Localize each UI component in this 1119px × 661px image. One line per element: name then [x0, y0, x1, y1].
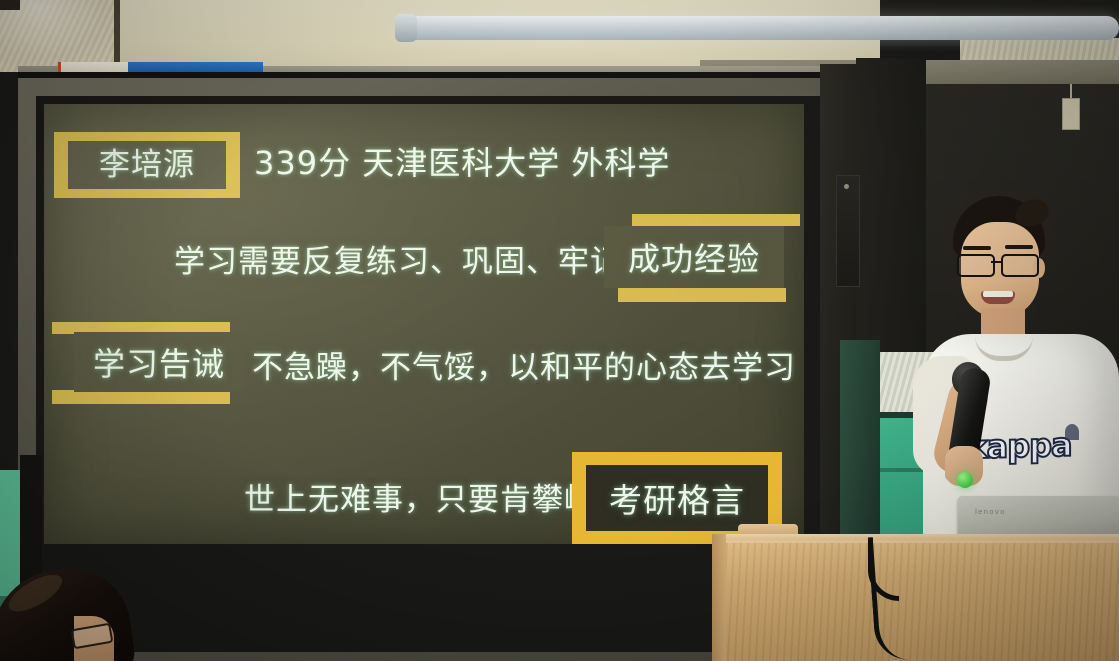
projected-slide: 李培源 339分 天津医科大学 外科学 学习需要反复练习、巩固、牢记 成功经验 — [44, 104, 804, 544]
study-method-sentence: 学习需要反复练习、巩固、牢记 — [174, 236, 622, 281]
badge-bar-bottom — [52, 390, 230, 404]
name-badge-inner: 李培源 — [68, 141, 226, 189]
badge-inner-box: 考研格言 — [586, 465, 768, 531]
student-info-text: 339分 天津医科大学 外科学 — [254, 138, 670, 184]
audience-hair-highlight — [3, 568, 67, 619]
audience-hair — [0, 561, 137, 661]
blackboard-latch — [836, 175, 860, 287]
exam-motto-label: 考研格言 — [609, 474, 745, 522]
badge-inner-box: 成功经验 — [604, 226, 784, 288]
lecture-photo-scene: 李培源 339分 天津医科大学 外科学 学习需要反复练习、巩固、牢记 成功经验 — [0, 0, 1119, 661]
audience-member — [0, 570, 140, 661]
badge-inner-box: 学习告诫 — [74, 332, 244, 392]
study-warning-badge: 学习告诫 — [52, 322, 248, 404]
presenter-eyebrow-left — [963, 246, 991, 250]
name-badge-label: 李培源 — [99, 150, 195, 181]
glasses-lens-right — [1001, 254, 1039, 277]
wall-corner-dark — [0, 0, 20, 10]
study-warning-label: 学习告诫 — [93, 339, 225, 385]
success-experience-badge: 成功经验 — [604, 214, 800, 302]
fluorescent-tube-cap — [395, 14, 417, 42]
study-warning-sentence: 不急躁，不气馁，以和平的心态去学习 — [252, 342, 796, 387]
success-experience-label: 成功经验 — [628, 234, 760, 280]
dark-wall-post — [840, 340, 880, 544]
badge-bar-top — [632, 214, 800, 226]
badge-bar-bottom — [618, 288, 786, 302]
presenter-mouth — [981, 291, 1015, 304]
laptop-brand-logo: lenovo — [975, 508, 1006, 516]
eyeglasses-icon — [957, 254, 1043, 274]
podium-left-edge — [712, 534, 726, 661]
fluorescent-tube-light — [395, 16, 1119, 40]
wooden-podium — [712, 540, 1119, 661]
presenter-eyebrow-right — [1005, 245, 1033, 249]
tshirt-logo-mark — [1065, 424, 1079, 440]
glasses-lens-left — [957, 254, 995, 277]
name-badge: 李培源 — [54, 132, 240, 198]
wall-socket — [1062, 98, 1080, 130]
microphone-led-indicator — [957, 472, 973, 488]
motto-sentence: 世上无难事，只要肯攀峰 — [244, 474, 596, 519]
